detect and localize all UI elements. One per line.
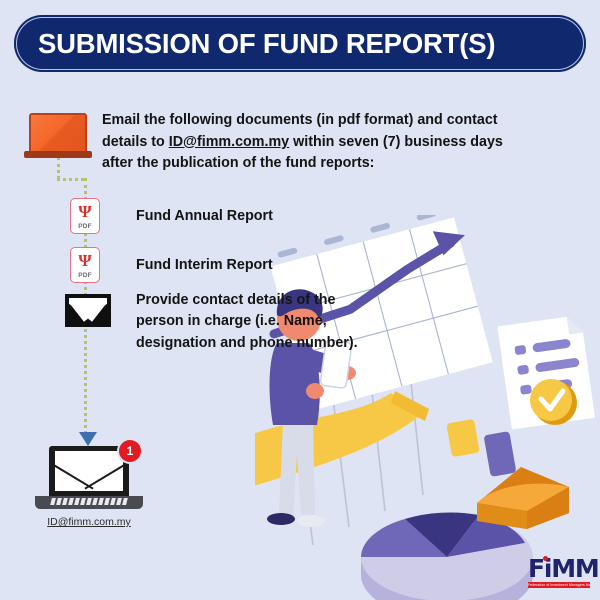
fimm-wordmark: FiMM — [528, 556, 590, 581]
pdf-icon-label: PDF — [71, 272, 99, 279]
intro-email-link[interactable]: ID@fimm.com.my — [169, 134, 289, 150]
laptop-mail-icon: 1 — [35, 446, 143, 514]
flow-line-horizontal — [57, 178, 84, 181]
fimm-logo: FiMM Federation of Investment Managers M… — [528, 556, 590, 588]
laptop-base — [24, 151, 92, 158]
page-title-banner: SUBMISSION OF FUND REPORT(S) — [14, 15, 586, 72]
inbox-envelope-icon — [55, 451, 123, 491]
pdf-file-icon: Ψ PDF — [70, 247, 100, 283]
list-item-label: Provide contact details of the person in… — [136, 290, 361, 354]
intro-paragraph: Email the following documents (in pdf fo… — [102, 110, 512, 175]
list-item-label: Fund Interim Report — [136, 255, 386, 276]
acrobat-swoosh-icon: Ψ — [78, 252, 91, 269]
acrobat-swoosh-icon: Ψ — [78, 203, 91, 220]
envelope-flap — [69, 298, 107, 323]
destination-email-label: ID@fimm.com.my — [35, 516, 143, 528]
page-title: SUBMISSION OF FUND REPORT(S) — [38, 28, 495, 60]
laptop-screen — [29, 113, 87, 151]
pdf-file-icon: Ψ PDF — [70, 198, 100, 234]
laptop-mail-screen — [49, 446, 129, 496]
pdf-icon-label: PDF — [71, 223, 99, 230]
envelope-icon — [65, 294, 111, 327]
laptop-icon — [24, 113, 92, 163]
fimm-dot-icon — [543, 556, 548, 561]
flow-arrow-icon — [79, 432, 97, 446]
laptop-keyboard — [50, 498, 128, 505]
infographic-canvas: SUBMISSION OF FUND REPORT(S) — [0, 0, 600, 600]
fimm-wordmark-text: FiMM — [528, 554, 599, 583]
notification-badge: 1 — [119, 440, 141, 462]
list-item-label: Fund Annual Report — [136, 206, 386, 227]
